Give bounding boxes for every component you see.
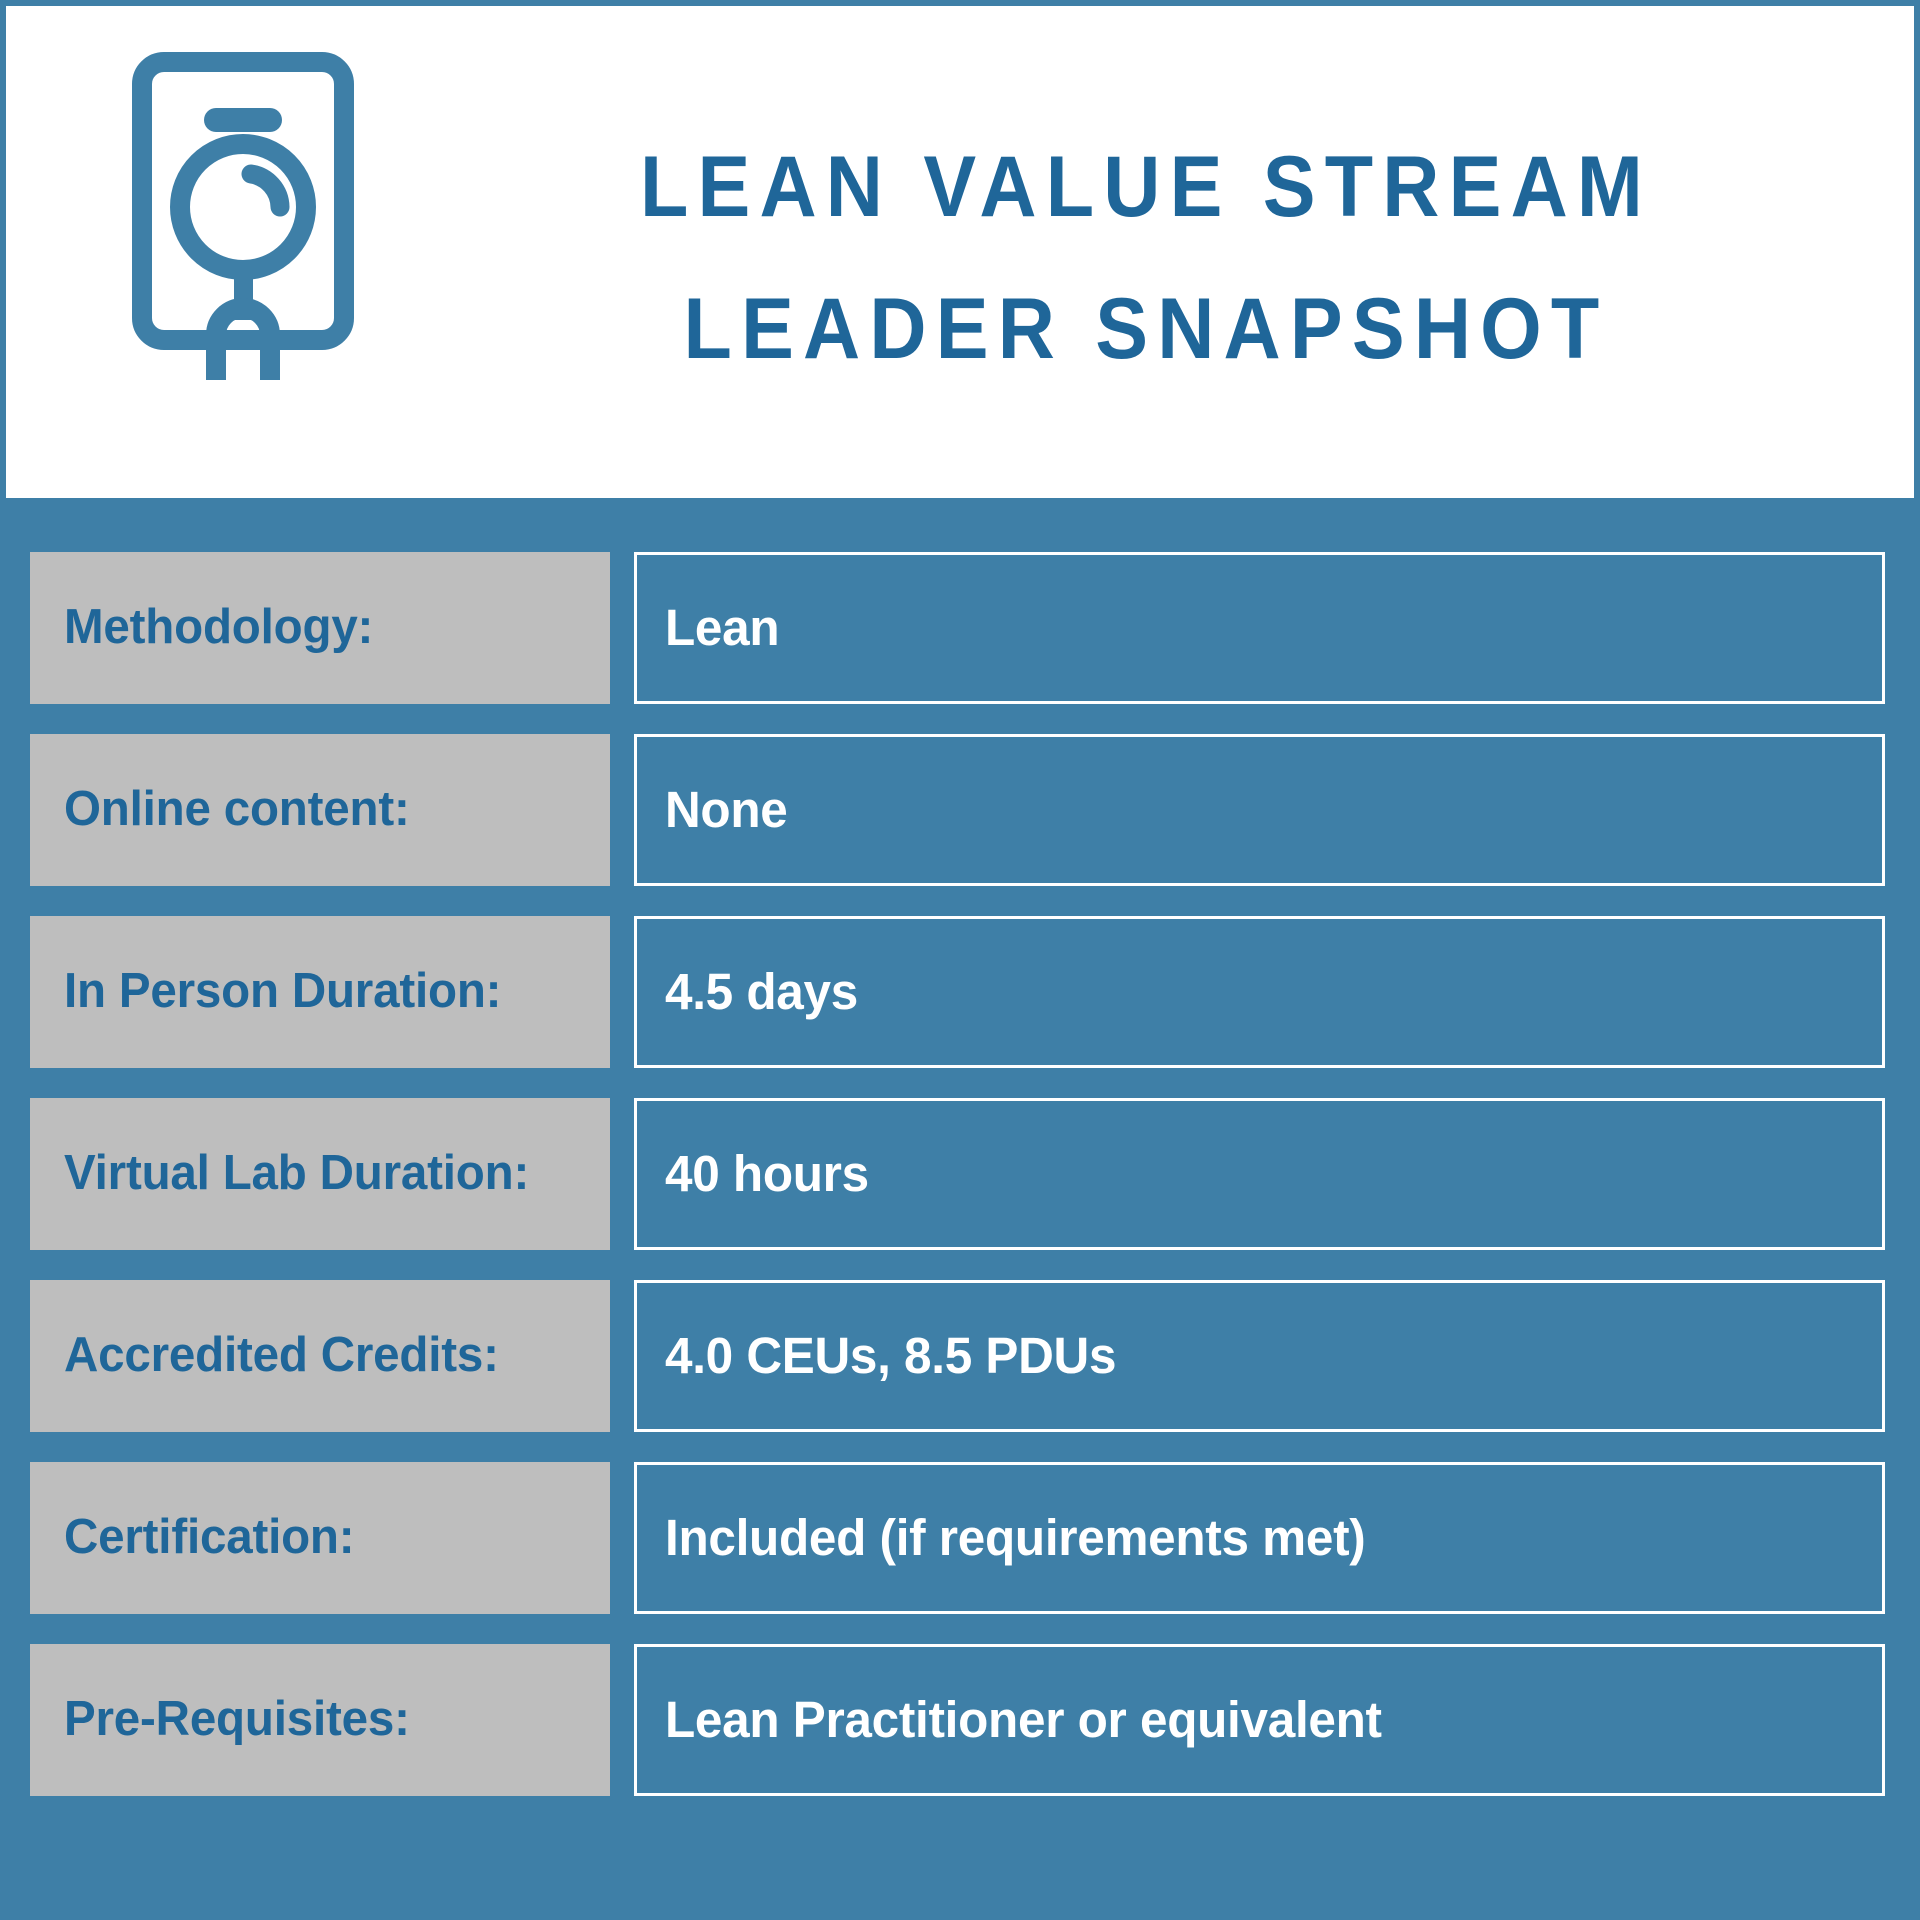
spec-value-pre-requisites: Lean Practitioner or equivalent	[634, 1644, 1885, 1796]
spec-label-online-content: Online content:	[30, 734, 610, 886]
spec-value-accredited-credits: 4.0 CEUs, 8.5 PDUs	[634, 1280, 1885, 1432]
column-gap	[610, 734, 634, 886]
spec-value-online-content: None	[634, 734, 1885, 886]
label-text: In Person Duration:	[64, 966, 501, 1017]
label-text: Certification:	[64, 1512, 354, 1563]
column-gap	[610, 1098, 634, 1250]
column-gap	[610, 1644, 634, 1796]
table-row: In Person Duration: 4.5 days	[0, 916, 1920, 1068]
table-row: Methodology: Lean	[0, 552, 1920, 704]
specs-table: Methodology: Lean Online content: None I…	[0, 498, 1920, 1920]
value-text: 4.0 CEUs, 8.5 PDUs	[665, 1329, 1116, 1383]
column-gap	[610, 552, 634, 704]
column-gap	[610, 916, 634, 1068]
spec-label-virtual-lab-duration: Virtual Lab Duration:	[30, 1098, 610, 1250]
value-text: Included (if requirements met)	[665, 1511, 1365, 1565]
spec-label-pre-requisites: Pre-Requisites:	[30, 1644, 610, 1796]
label-text: Pre-Requisites:	[64, 1694, 410, 1745]
table-row: Certification: Included (if requirements…	[0, 1462, 1920, 1614]
value-text: 40 hours	[665, 1147, 869, 1201]
value-text: None	[665, 783, 788, 837]
label-text: Virtual Lab Duration:	[64, 1148, 529, 1199]
spec-value-in-person-duration: 4.5 days	[634, 916, 1885, 1068]
header-panel: LEAN VALUE STREAM LEADER SNAPSHOT	[0, 0, 1920, 498]
value-text: 4.5 days	[665, 965, 858, 1019]
snapshot-infographic: LEAN VALUE STREAM LEADER SNAPSHOT Method…	[0, 0, 1920, 1920]
value-text: Lean	[665, 601, 779, 655]
spec-value-certification: Included (if requirements met)	[634, 1462, 1885, 1614]
table-row: Virtual Lab Duration: 40 hours	[0, 1098, 1920, 1250]
label-text: Accredited Credits:	[64, 1330, 499, 1381]
label-text: Methodology:	[64, 602, 373, 653]
column-gap	[610, 1462, 634, 1614]
document-magnifier-icon	[130, 50, 356, 380]
spec-value-virtual-lab-duration: 40 hours	[634, 1098, 1885, 1250]
label-text: Online content:	[64, 784, 410, 835]
page-title: LEAN VALUE STREAM LEADER SNAPSHOT	[406, 116, 1886, 400]
table-row: Online content: None	[0, 734, 1920, 886]
spec-label-methodology: Methodology:	[30, 552, 610, 704]
title-line-2: LEADER SNAPSHOT	[465, 258, 1827, 400]
column-gap	[610, 1280, 634, 1432]
spec-label-accredited-credits: Accredited Credits:	[30, 1280, 610, 1432]
table-row: Accredited Credits: 4.0 CEUs, 8.5 PDUs	[0, 1280, 1920, 1432]
spec-label-in-person-duration: In Person Duration:	[30, 916, 610, 1068]
value-text: Lean Practitioner or equivalent	[665, 1693, 1382, 1747]
title-line-1: LEAN VALUE STREAM	[465, 116, 1827, 258]
table-row: Pre-Requisites: Lean Practitioner or equ…	[0, 1644, 1920, 1796]
spec-value-methodology: Lean	[634, 552, 1885, 704]
spec-label-certification: Certification:	[30, 1462, 610, 1614]
